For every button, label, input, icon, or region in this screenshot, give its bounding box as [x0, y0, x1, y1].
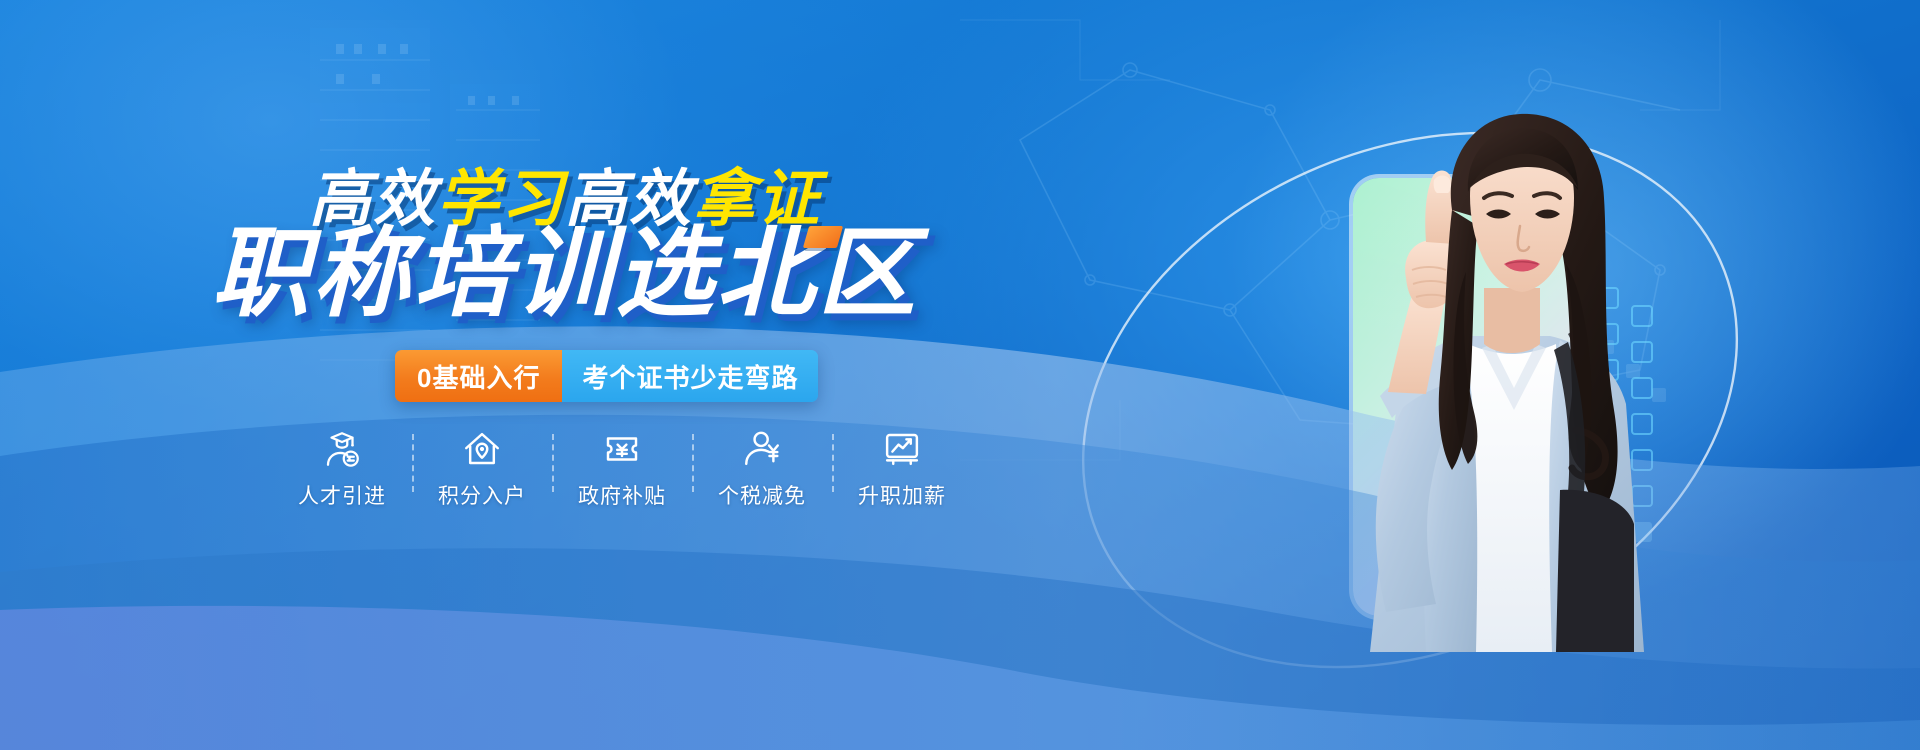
feature-item-talent-intro[interactable]: 人才引进 [272, 428, 412, 510]
pill-badge: 0基础入行 [395, 350, 562, 402]
orange-accent-mark-icon [803, 226, 843, 248]
person-yuan-icon [741, 428, 783, 470]
ticket-yuan-icon [601, 428, 643, 470]
subtitle-pill: 0基础入行 考个证书少走弯路 [395, 350, 818, 402]
feature-item-tax-reduction[interactable]: 个税减免 [692, 428, 832, 510]
feature-item-points-residency[interactable]: 积分入户 [412, 428, 552, 510]
banner-content: 高效学习高效拿证 职称培训选北区 0基础入行 考个证书少走弯路 [0, 0, 1920, 750]
feature-item-promotion-raise[interactable]: 升职加薪 [832, 428, 972, 510]
feature-label: 个税减免 [718, 480, 806, 510]
feature-item-government-subsidy[interactable]: 政府补贴 [552, 428, 692, 510]
headline-main: 职称培训选北区 [0, 222, 1130, 325]
feature-label: 政府补贴 [578, 480, 666, 510]
feature-list: 人才引进 积分入户 [272, 428, 972, 510]
pill-tagline: 考个证书少走弯路 [562, 350, 818, 402]
graduate-person-icon [321, 428, 363, 470]
promo-banner: 高效学习高效拿证 职称培训选北区 0基础入行 考个证书少走弯路 [0, 0, 1920, 750]
feature-label: 升职加薪 [858, 480, 946, 510]
feature-label: 积分入户 [438, 480, 526, 510]
house-pin-icon [461, 428, 503, 470]
growth-chart-icon [881, 428, 923, 470]
feature-label: 人才引进 [298, 480, 386, 510]
